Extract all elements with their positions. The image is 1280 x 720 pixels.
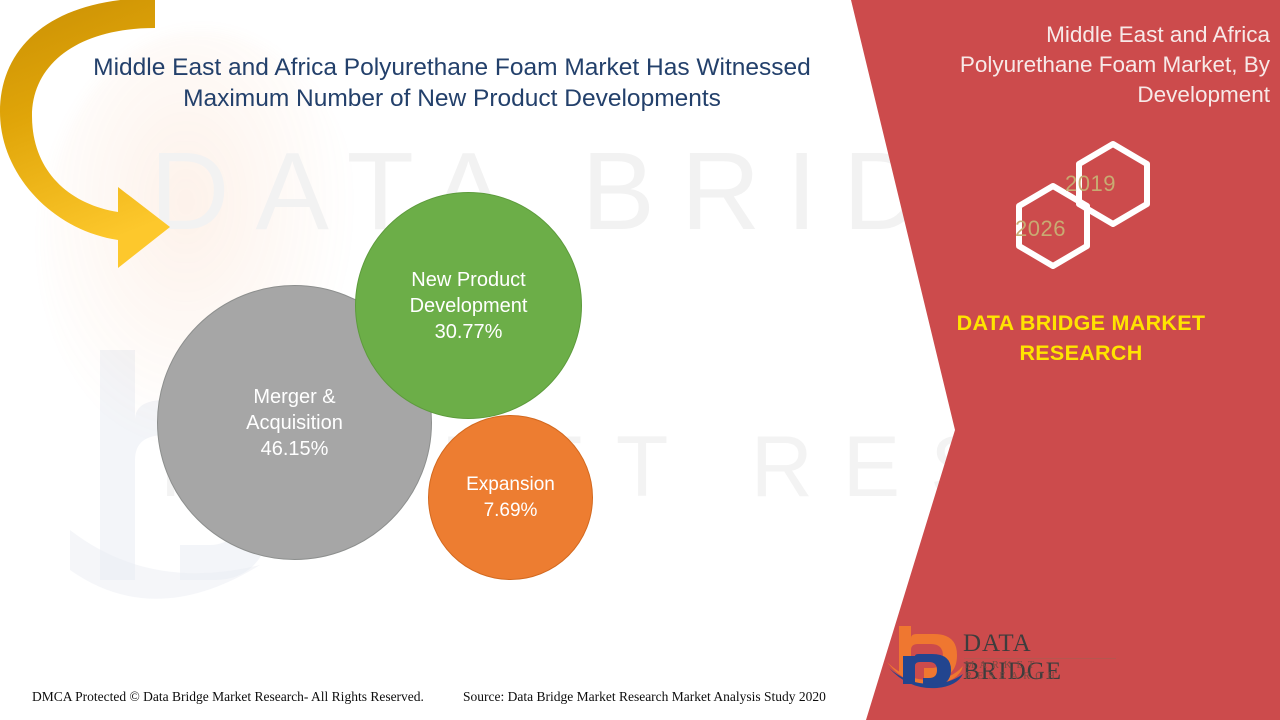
infographic-slide: DATA BRIDGE MARKET RESEARCH Middle East … [0, 0, 1280, 720]
curved-arrow-icon [0, 0, 202, 284]
bubble-label-line1: New Product [411, 267, 526, 293]
bubble-label-line1: Merger & [253, 384, 335, 410]
bubble-new-product-development[interactable]: New Product Development 30.77% [355, 192, 582, 419]
footer: DMCA Protected © Data Bridge Market Rese… [0, 678, 1280, 720]
hexagon-2026-label: 2026 [1015, 216, 1066, 242]
red-panel-content: Middle East and Africa Polyurethane Foam… [900, 0, 1280, 720]
bubble-label-line2: Acquisition [246, 410, 343, 436]
bubble-label-line2: Development [410, 293, 528, 319]
logo-divider [964, 658, 1116, 659]
bubble-value: 30.77% [435, 319, 503, 345]
page-title: Middle East and Africa Polyurethane Foam… [72, 52, 832, 114]
hexagon-2019-label: 2019 [1065, 171, 1116, 197]
bubble-value: 7.69% [484, 498, 538, 524]
hexagon-outlines [995, 138, 1185, 278]
hexagon-group: 2019 2026 [995, 138, 1185, 278]
bubble-expansion[interactable]: Expansion 7.69% [428, 415, 593, 580]
brand-name: DATA BRIDGE MARKET RESEARCH [900, 308, 1280, 368]
red-panel-title: Middle East and Africa Polyurethane Foam… [920, 20, 1270, 110]
footer-source-note: Source: Data Bridge Market Research Mark… [463, 689, 826, 705]
footer-dmca-notice: DMCA Protected © Data Bridge Market Rese… [32, 689, 424, 705]
bubble-value: 46.15% [261, 436, 329, 462]
bubble-label-line1: Expansion [466, 472, 555, 498]
